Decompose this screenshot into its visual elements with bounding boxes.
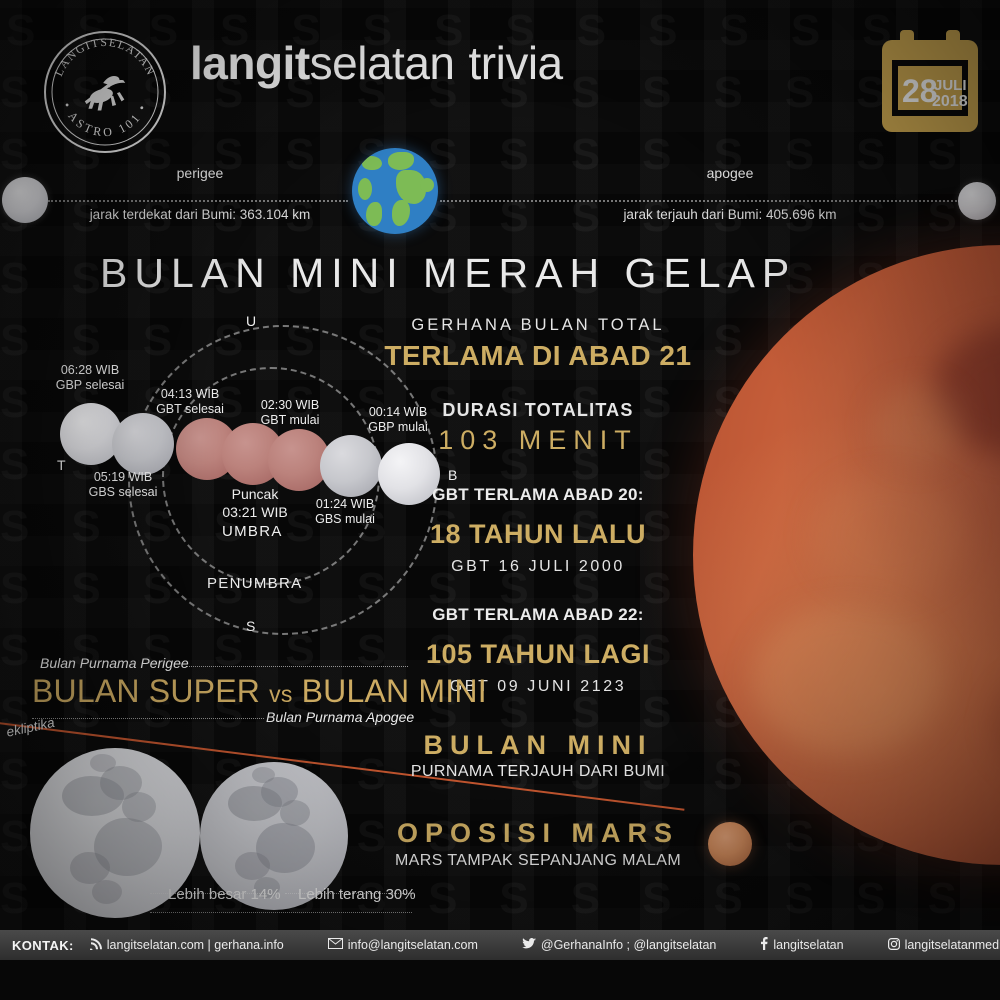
mars-planet-icon <box>708 822 752 866</box>
brand-part-langit: langit <box>190 37 310 89</box>
apogee-label: apogee <box>640 165 820 181</box>
footer-contact-bar: KONTAK: langitselatan.com | gerhana.info… <box>0 930 1000 960</box>
apogee-line <box>440 200 960 202</box>
umbra-label: UMBRA <box>222 523 283 540</box>
footer-bottom-strip <box>0 960 1000 1000</box>
duration-block: DURASI TOTALITAS <box>368 400 708 421</box>
svg-text:• ASTRO 101 •: • ASTRO 101 • <box>60 100 150 139</box>
century22-head: GBT TERLAMA ABAD 22: <box>368 605 708 625</box>
penumbra-label: PENUMBRA <box>207 575 302 592</box>
super-vs-mini-bottom-rule <box>32 718 264 719</box>
earth-globe-icon <box>352 148 438 234</box>
diagram-moon-gbs-selesai <box>112 413 174 475</box>
phase-time: 06:28 WIB <box>30 363 150 378</box>
oposisi-mars-sub-block: MARS TAMPAK SEPANJANG MALAM <box>368 852 708 870</box>
footer-instagram-text: langitselatanmedia <box>905 938 1000 952</box>
century22-block: GBT TERLAMA ABAD 22: <box>368 605 708 625</box>
heading-vs: vs <box>269 681 292 707</box>
footer-item-website[interactable]: langitselatan.com | gerhana.info <box>90 938 306 953</box>
phase-event: GBS selesai <box>63 485 183 500</box>
oposisi-mars-sub: MARS TAMPAK SEPANJANG MALAM <box>368 852 708 870</box>
perigee-sub: jarak terdekat dari Bumi: 363.104 km <box>60 207 340 222</box>
duration-label: DURASI TOTALITAS <box>368 400 708 421</box>
brand-part-trivia: trivia <box>469 37 563 89</box>
century20-block: GBT TERLAMA ABAD 20: <box>368 485 708 505</box>
heading-bulan-mini: BULAN MINI <box>302 673 487 709</box>
calendar-month: JULI <box>934 77 967 94</box>
bulan-mini-sub: PURNAMA TERJAUH DARI BUMI <box>368 763 708 781</box>
rss-icon <box>90 938 102 953</box>
perigee-moon-icon <box>2 177 48 223</box>
point-north: U <box>246 313 256 329</box>
facebook-icon <box>760 937 768 953</box>
century20-head: GBT TERLAMA ABAD 20: <box>368 485 708 505</box>
mail-icon <box>328 938 343 952</box>
eclipse-superlative: TERLAMA DI ABAD 21 <box>368 340 708 372</box>
page-title: BULAN MINI MERAH GELAP <box>100 250 700 297</box>
century20-value: 18 TAHUN LALU <box>368 519 708 550</box>
instagram-icon <box>888 938 900 953</box>
century20-value-block: 18 TAHUN LALU <box>368 519 708 550</box>
compare-rule-bottom <box>150 912 412 913</box>
footer-item-instagram[interactable]: langitselatanmedia <box>866 938 1000 953</box>
orbit-distance-band: perigee jarak terdekat dari Bumi: 363.10… <box>0 155 1000 250</box>
brand-part-selatan: selatan <box>310 37 455 89</box>
apogee-sub: jarak terjauh dari Bumi: 405.696 km <box>580 207 880 222</box>
bulan-mini-title: BULAN MINI <box>368 730 708 761</box>
century20-note: GBT 16 JULI 2000 <box>368 558 708 576</box>
heading-bulan-super: BULAN SUPER <box>32 673 260 709</box>
eclipse-superlative-label: TERLAMA DI ABAD 21 <box>368 340 708 372</box>
compare-bright-rule <box>285 893 413 894</box>
footer-item-twitter[interactable]: @GerhanaInfo ; @langitselatan <box>500 938 738 953</box>
century20-note-block: GBT 16 JULI 2000 <box>368 558 708 576</box>
super-vs-mini-top-rule <box>186 666 408 667</box>
footer-email-text: info@langitselatan.com <box>348 938 478 952</box>
footer-website-text: langitselatan.com | gerhana.info <box>107 938 284 952</box>
century22-value-block: 105 TAHUN LAGI <box>368 639 708 670</box>
phase-time: 02:30 WIB <box>230 398 350 413</box>
peak-label: Puncak <box>190 485 320 503</box>
header: LANGITSELATAN • ASTRO 101 • langitselata… <box>0 0 1000 150</box>
oposisi-mars-title: OPOSISI MARS <box>368 818 708 849</box>
phase-event: GBT mulai <box>230 413 350 428</box>
super-vs-mini-bottom-label: Bulan Purnama Apogee <box>266 709 414 725</box>
calendar-icon: 28 JULI 2018 <box>878 28 982 136</box>
super-vs-mini-main: BULAN SUPER vs BULAN MINI <box>32 673 487 710</box>
twitter-icon <box>522 938 536 953</box>
footer-twitter-text: @GerhanaInfo ; @langitselatan <box>541 938 716 952</box>
peak-time: 03:21 WIB <box>190 503 320 521</box>
eclipse-kind-label: GERHANA BULAN TOTAL <box>368 316 708 335</box>
bulan-mini-sub-block: PURNAMA TERJAUH DARI BUMI <box>368 763 708 781</box>
phase-time: 05:19 WIB <box>63 470 183 485</box>
footer-item-email[interactable]: info@langitselatan.com <box>306 938 500 952</box>
langitselatan-seal-logo[interactable]: LANGITSELATAN • ASTRO 101 • <box>35 22 175 162</box>
eclipse-kind: GERHANA BULAN TOTAL <box>368 316 708 335</box>
compare-bright-label: Lebih terang 30% <box>298 886 416 903</box>
perigee-line <box>48 200 348 202</box>
perigee-label: perigee <box>110 165 290 181</box>
footer-kontak-label: KONTAK: <box>0 938 90 953</box>
footer-item-facebook[interactable]: langitselatan <box>738 937 865 953</box>
duration-value-block: 103 MENIT <box>368 425 708 456</box>
footer-facebook-text: langitselatan <box>773 938 843 952</box>
compare-size-label: Lebih besar 14% <box>168 886 281 903</box>
super-vs-mini-heading: Bulan Purnama Perigee BULAN SUPER vs BUL… <box>18 655 418 745</box>
brand-title: langitselatantrivia <box>190 36 563 90</box>
oposisi-mars-block: OPOSISI MARS <box>368 818 708 849</box>
point-south: S <box>246 618 255 634</box>
super-vs-mini-top-label: Bulan Purnama Perigee <box>40 655 189 671</box>
century22-value: 105 TAHUN LAGI <box>368 639 708 670</box>
duration-value: 103 MENIT <box>368 425 708 456</box>
point-east: B <box>448 467 457 483</box>
peak-label-group: Puncak 03:21 WIB <box>190 485 320 521</box>
apogee-moon-icon <box>958 182 996 220</box>
phase-label-gbt-mulai: 02:30 WIB GBT mulai <box>230 398 350 428</box>
phase-label-gbs-selesai: 05:19 WIB GBS selesai <box>63 470 183 500</box>
bulan-mini-block: BULAN MINI <box>368 730 708 761</box>
calendar-year: 2018 <box>932 93 968 110</box>
